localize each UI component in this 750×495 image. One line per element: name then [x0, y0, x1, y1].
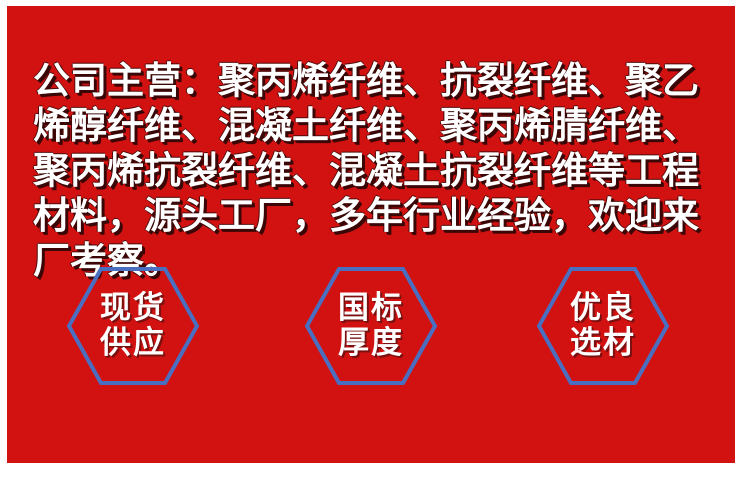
hexagon-icon: [65, 264, 201, 388]
promo-banner: 公司主营：聚丙烯纤维、抗裂纤维、聚乙烯醇纤维、混凝土纤维、聚丙烯腈纤维、聚丙烯抗…: [7, 6, 735, 463]
feature-badge-stock: 现货 供应: [65, 264, 201, 388]
feature-badge-thickness: 国标 厚度: [303, 264, 439, 388]
feature-badge-row: 现货 供应 国标 厚度 优良 选材: [7, 264, 735, 404]
feature-badge-material: 优良 选材: [535, 264, 671, 388]
hexagon-icon: [303, 264, 439, 388]
headline-text: 公司主营：聚丙烯纤维、抗裂纤维、聚乙烯醇纤维、混凝土纤维、聚丙烯腈纤维、聚丙烯抗…: [33, 58, 723, 283]
hexagon-icon: [535, 264, 671, 388]
